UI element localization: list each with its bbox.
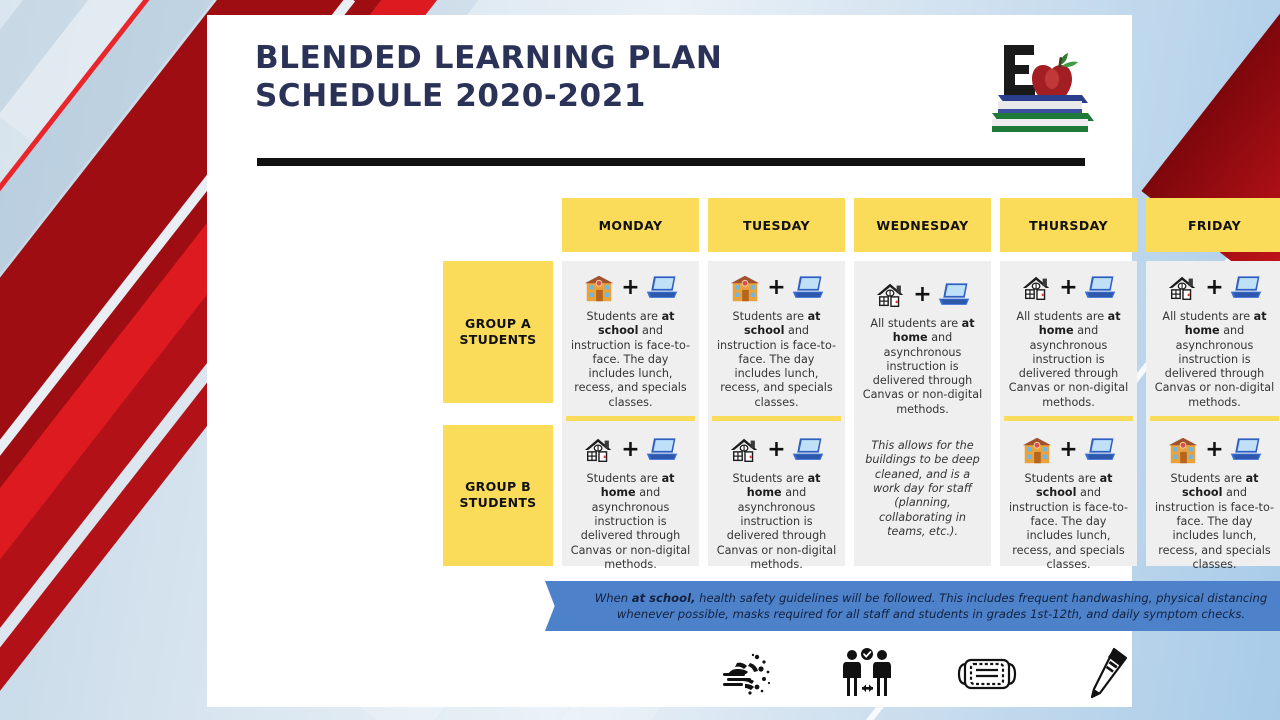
- cell-text: Students are at school and instruction i…: [568, 310, 693, 410]
- group-b-label: GROUP B STUDENTS: [443, 425, 553, 567]
- cell-monday-group-b: + Students are at home and asynchronous …: [562, 421, 699, 578]
- cell-text: All students are at home and asynchronou…: [1006, 310, 1131, 410]
- cell-thursday: + All students are at home and asynchron…: [1000, 261, 1137, 566]
- group-label-column: GROUP A STUDENTS GROUP B STUDENTS: [443, 261, 553, 566]
- laptop-icon: [1083, 273, 1117, 303]
- cell-friday: + All students are at home and asynchron…: [1146, 261, 1280, 566]
- laptop-icon: [791, 273, 825, 303]
- icon-row: +: [582, 268, 678, 308]
- house-icon: [728, 434, 762, 466]
- house-icon: [874, 279, 908, 311]
- icon-row: +: [874, 275, 970, 315]
- cell-thursday-group-b: + Students are at school and instruction…: [1000, 421, 1137, 578]
- wednesday-note: This allows for the buildings to be deep…: [860, 439, 985, 539]
- cell-text: Students are at school and instruction i…: [714, 310, 839, 410]
- house-icon: [1020, 272, 1054, 304]
- laptop-icon: [1229, 273, 1263, 303]
- cell-text: Students are at school and instruction i…: [1006, 472, 1131, 572]
- school-building-icon: [728, 271, 762, 305]
- laptop-icon: [1229, 435, 1263, 465]
- cell-text: All students are at home and asynchronou…: [860, 317, 985, 417]
- plus-icon: +: [1205, 277, 1223, 299]
- cell-monday-group-a: + Students are at school and instruction…: [562, 261, 699, 416]
- icon-row: +: [728, 430, 824, 470]
- thermometer-icon: [1076, 644, 1138, 704]
- school-building-icon: [1166, 433, 1200, 467]
- safety-icon-row: [707, 642, 1147, 706]
- laptop-icon: [937, 280, 971, 310]
- banner-body: When at school, health safety guidelines…: [567, 581, 1280, 631]
- plus-icon: +: [621, 277, 639, 299]
- handwashing-icon: [716, 644, 778, 704]
- icon-row: +: [1020, 430, 1116, 470]
- cell-text: Students are at home and asynchronous in…: [714, 472, 839, 572]
- laptop-icon: [645, 273, 679, 303]
- day-header-wednesday: WEDNESDAY: [854, 198, 991, 252]
- cell-monday: + Students are at school and instruction…: [562, 261, 699, 566]
- plus-icon: +: [1205, 439, 1223, 461]
- house-icon: [1166, 272, 1200, 304]
- cell-tuesday: + Students are at school and instruction…: [708, 261, 845, 566]
- page-title: BLENDED LEARNING PLAN SCHEDULE 2020-2021: [255, 39, 1088, 115]
- social-distancing-icon: [836, 644, 898, 704]
- cell-friday-group-b: + Students are at school and instruction…: [1146, 421, 1280, 578]
- cell-wednesday-merged: + All students are at home and asynchron…: [854, 261, 991, 566]
- icon-row: +: [1166, 268, 1262, 308]
- laptop-icon: [645, 435, 679, 465]
- banner-tail-left: [545, 581, 568, 631]
- header: BLENDED LEARNING PLAN SCHEDULE 2020-2021: [207, 15, 1132, 155]
- day-header-friday: FRIDAY: [1146, 198, 1280, 252]
- plus-icon: +: [1059, 277, 1077, 299]
- cell-wednesday-content: + All students are at home and asynchron…: [854, 261, 991, 566]
- plus-icon: +: [621, 439, 639, 461]
- school-district-e-apple-books-logo: [986, 35, 1098, 135]
- day-header-thursday: THURSDAY: [1000, 198, 1137, 252]
- laptop-icon: [1083, 435, 1117, 465]
- cell-tuesday-group-a: + Students are at school and instruction…: [708, 261, 845, 416]
- plus-icon: +: [767, 439, 785, 461]
- cell-text: All students are at home and asynchronou…: [1152, 310, 1277, 410]
- cell-text: Students are at school and instruction i…: [1152, 472, 1277, 572]
- cell-friday-group-a: + All students are at home and asynchron…: [1146, 261, 1280, 416]
- cell-thursday-group-a: + All students are at home and asynchron…: [1000, 261, 1137, 416]
- house-icon: [582, 434, 616, 466]
- safety-banner: When at school, health safety guidelines…: [545, 581, 1280, 631]
- banner-text: When at school, health safety guidelines…: [581, 590, 1280, 622]
- plus-icon: +: [913, 284, 931, 306]
- schedule-grid: MONDAY TUESDAY WEDNESDAY THURSDAY FRIDAY…: [443, 198, 1280, 566]
- title-underline-rule: [257, 158, 1085, 166]
- day-header-monday: MONDAY: [562, 198, 699, 252]
- group-a-label: GROUP A STUDENTS: [443, 261, 553, 403]
- plus-icon: +: [767, 277, 785, 299]
- school-building-icon: [1020, 433, 1054, 467]
- icon-row: +: [1020, 268, 1116, 308]
- corner-spacer: [443, 198, 553, 252]
- face-mask-icon: [956, 644, 1018, 704]
- school-building-icon: [582, 271, 616, 305]
- icon-row: +: [582, 430, 678, 470]
- cell-tuesday-group-b: + Students are at home and asynchronous …: [708, 421, 845, 578]
- schedule-body: GROUP A STUDENTS GROUP B STUDENTS + Stud…: [443, 261, 1280, 566]
- plus-icon: +: [1059, 439, 1077, 461]
- schedule-card: BLENDED LEARNING PLAN SCHEDULE 2020-2021: [207, 15, 1132, 707]
- cell-text: Students are at home and asynchronous in…: [568, 472, 693, 572]
- day-header-tuesday: TUESDAY: [708, 198, 845, 252]
- laptop-icon: [791, 435, 825, 465]
- icon-row: +: [728, 268, 824, 308]
- icon-row: +: [1166, 430, 1262, 470]
- day-header-row: MONDAY TUESDAY WEDNESDAY THURSDAY FRIDAY: [443, 198, 1280, 252]
